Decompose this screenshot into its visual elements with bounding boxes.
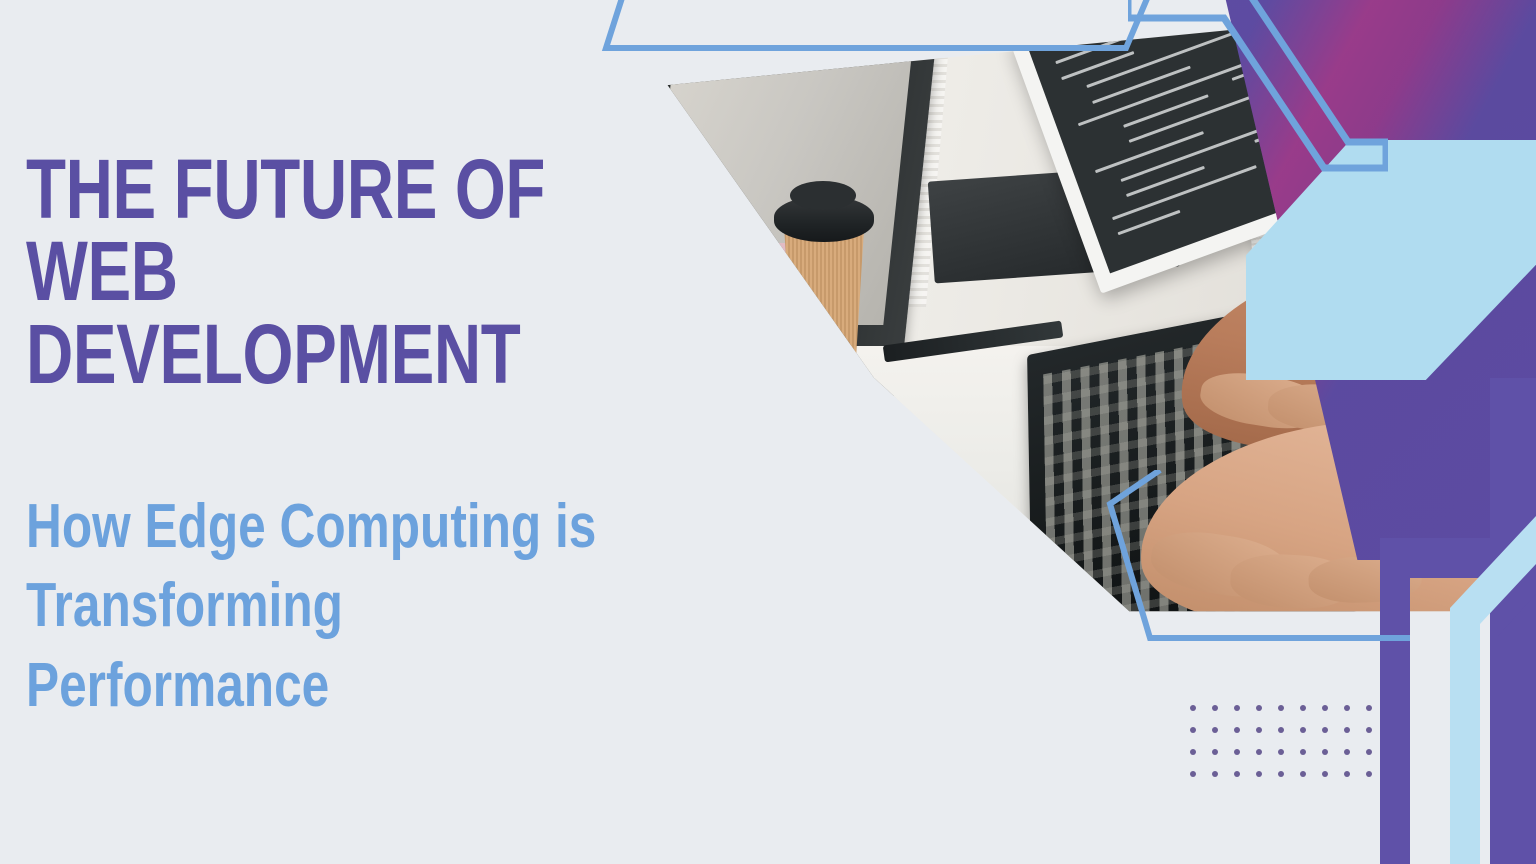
- dot: [1190, 727, 1196, 733]
- dot: [1256, 771, 1262, 777]
- dot: [1366, 727, 1372, 733]
- banner-root: THE FUTURE OF WEB DEVELOPMENT How Edge C…: [0, 0, 1536, 864]
- dot-grid-decoration: [1190, 705, 1388, 793]
- page-title: THE FUTURE OF WEB DEVELOPMENT: [26, 148, 634, 395]
- dot: [1278, 727, 1284, 733]
- dot: [1256, 705, 1262, 711]
- dot: [1212, 727, 1218, 733]
- dot: [1212, 705, 1218, 711]
- dot: [1344, 771, 1350, 777]
- dot: [1212, 771, 1218, 777]
- dot: [1366, 705, 1372, 711]
- dot: [1190, 705, 1196, 711]
- dot: [1190, 771, 1196, 777]
- dot: [1322, 705, 1328, 711]
- dot: [1234, 749, 1240, 755]
- bottom-chevron-outline: [990, 470, 1410, 650]
- dot: [1278, 749, 1284, 755]
- dot: [1190, 749, 1196, 755]
- dot: [1300, 749, 1306, 755]
- dot: [1344, 727, 1350, 733]
- dot: [1322, 771, 1328, 777]
- text-content: THE FUTURE OF WEB DEVELOPMENT How Edge C…: [26, 148, 806, 725]
- dot: [1322, 749, 1328, 755]
- dot: [1344, 749, 1350, 755]
- top-right-outline-chevron: [1128, 0, 1388, 192]
- dot: [1344, 705, 1350, 711]
- dot: [1234, 771, 1240, 777]
- dot: [1256, 727, 1262, 733]
- dot: [1300, 727, 1306, 733]
- dot: [1366, 771, 1372, 777]
- dot: [1212, 749, 1218, 755]
- dot: [1322, 727, 1328, 733]
- top-parallelogram-outline: [596, 0, 1166, 54]
- dot: [1234, 727, 1240, 733]
- dot: [1278, 705, 1284, 711]
- dot: [1300, 771, 1306, 777]
- dot: [1366, 749, 1372, 755]
- dot: [1234, 705, 1240, 711]
- dot: [1256, 749, 1262, 755]
- dot: [1278, 771, 1284, 777]
- dot: [1300, 705, 1306, 711]
- page-subtitle: How Edge Computing is Transforming Perfo…: [26, 487, 650, 725]
